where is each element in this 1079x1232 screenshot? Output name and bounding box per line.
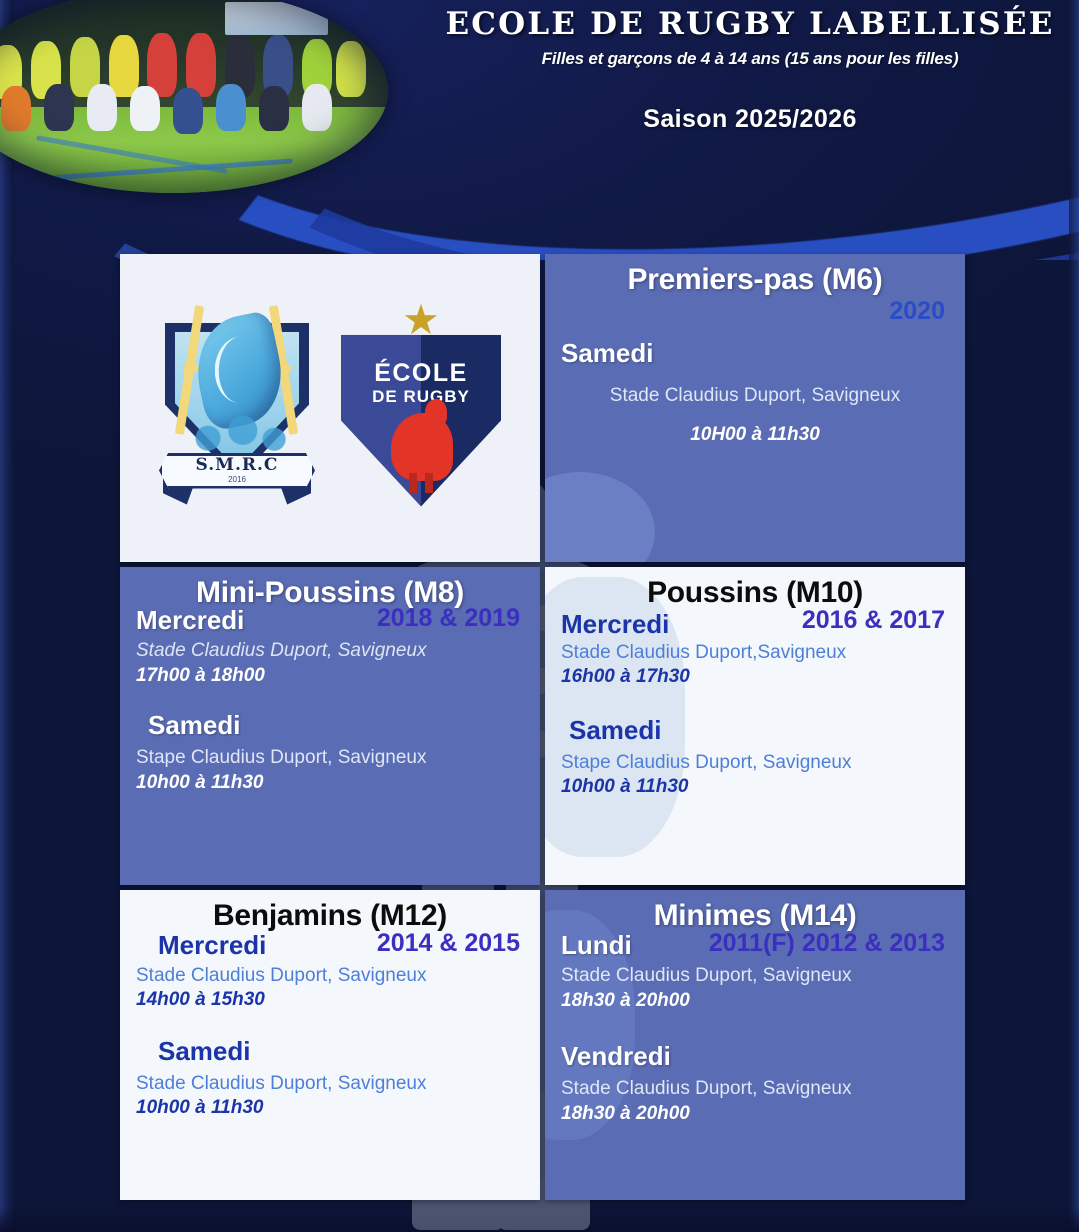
session-place: Stape Claudius Duport, Savigneux <box>136 747 524 770</box>
session-place: Stade Claudius Duport, Savigneux <box>136 1073 524 1096</box>
smrc-ribbon: S.M.R.C 2016 <box>159 453 315 489</box>
waves-icon <box>179 407 295 459</box>
category-title: Benjamins (M12) <box>136 900 524 932</box>
session-slot: Samedi Stade Claudius Duport, Savigneux … <box>561 339 949 446</box>
category-card-mini-poussins[interactable]: Mini-Poussins (M8) 2018 & 2019 Mercredi … <box>120 567 540 885</box>
season-label: Saison 2025/2026 <box>430 105 1070 134</box>
session-day: Lundi <box>561 931 949 961</box>
session-slot: Samedi Stape Claudius Duport, Savigneux … <box>561 716 949 798</box>
session-slot: Vendredi Stade Claudius Duport, Savigneu… <box>561 1042 949 1125</box>
category-title: Minimes (M14) <box>561 900 949 932</box>
session-time: 10H00 à 11h30 <box>561 424 949 447</box>
session-slot: Mercredi Stade Claudius Duport, Savigneu… <box>136 931 524 1011</box>
session-time: 14h00 à 15h30 <box>136 989 524 1012</box>
session-day: Samedi <box>148 711 524 741</box>
club-founded-year: 2016 <box>228 475 246 484</box>
card-blob <box>545 472 655 562</box>
category-title: Poussins (M10) <box>561 577 949 609</box>
session-place: Stade Claudius Duport, Savigneux <box>561 385 949 408</box>
session-day: Samedi <box>561 339 949 369</box>
session-slot: Samedi Stade Claudius Duport, Savigneux … <box>136 1037 524 1119</box>
session-place: Stade Claudius Duport,Savigneux <box>561 642 949 665</box>
club-logo-card: S.M.R.C 2016 ★ ÉCOLE DE RUGBY <box>120 254 540 562</box>
session-time: 10h00 à 11h30 <box>561 776 949 799</box>
school-crest-line2: DE RUGBY <box>335 387 507 407</box>
session-time: 18h30 à 20h00 <box>561 1103 949 1126</box>
bottom-gradient <box>0 1206 1079 1232</box>
poster-subtitle: Filles et garçons de 4 à 14 ans (15 ans … <box>430 49 1070 69</box>
category-card-minimes[interactable]: Minimes (M14) 2011(F) 2012 & 2013 Lundi … <box>545 890 965 1200</box>
rugby-school-poster: ECOLE DE RUGBY LABELLISÉE Filles et garç… <box>0 0 1079 1232</box>
session-time: 17h00 à 18h00 <box>136 665 524 688</box>
category-card-premiers-pas[interactable]: Premiers-pas (M6) 2020 Samedi Stade Clau… <box>545 254 965 562</box>
session-place: Stade Claudius Duport, Savigneux <box>561 965 949 988</box>
session-place: Stade Claudius Duport, Savigneux <box>136 640 524 663</box>
session-day: Vendredi <box>561 1042 949 1072</box>
school-crest-line1: ÉCOLE <box>335 359 507 388</box>
team-photo <box>0 0 388 193</box>
category-card-poussins[interactable]: Poussins (M10) 2016 & 2017 Mercredi Stad… <box>545 567 965 885</box>
category-card-benjamins[interactable]: Benjamins (M12) 2014 & 2015 Mercredi Sta… <box>120 890 540 1200</box>
session-place: Stade Claudius Duport, Savigneux <box>136 965 524 988</box>
session-slot: Samedi Stape Claudius Duport, Savigneux … <box>136 711 524 794</box>
smrc-crest-icon: S.M.R.C 2016 <box>153 301 321 516</box>
ecole-de-rugby-crest-icon: ★ ÉCOLE DE RUGBY <box>335 301 507 516</box>
right-edge-gradient <box>1069 0 1079 1232</box>
session-day: Samedi <box>569 716 949 746</box>
session-slot: Mercredi Stade Claudius Duport,Savigneux… <box>561 610 949 688</box>
session-time: 10h00 à 11h30 <box>136 1097 524 1120</box>
session-slot: Lundi Stade Claudius Duport, Savigneux 1… <box>561 931 949 1012</box>
session-day: Mercredi <box>561 610 949 640</box>
session-place: Stade Claudius Duport, Savigneux <box>561 1078 949 1101</box>
session-slot: Mercredi Stade Claudius Duport, Savigneu… <box>136 606 524 687</box>
poster-header: ECOLE DE RUGBY LABELLISÉE Filles et garç… <box>430 6 1070 134</box>
session-day: Samedi <box>158 1037 524 1067</box>
session-day: Mercredi <box>136 606 524 636</box>
session-place: Stape Claudius Duport, Savigneux <box>561 752 949 775</box>
poster-title: ECOLE DE RUGBY LABELLISÉE <box>430 6 1070 42</box>
session-day: Mercredi <box>158 931 524 961</box>
session-time: 16h00 à 17h30 <box>561 666 949 689</box>
category-years: 2020 <box>561 298 949 326</box>
club-name: S.M.R.C <box>196 457 279 474</box>
category-title: Premiers-pas (M6) <box>561 264 949 296</box>
schedule-grid: S.M.R.C 2016 ★ ÉCOLE DE RUGBY Premiers-p… <box>120 254 965 1200</box>
rooster-icon <box>391 413 453 481</box>
session-time: 10h00 à 11h30 <box>136 772 524 795</box>
session-time: 18h30 à 20h00 <box>561 990 949 1013</box>
